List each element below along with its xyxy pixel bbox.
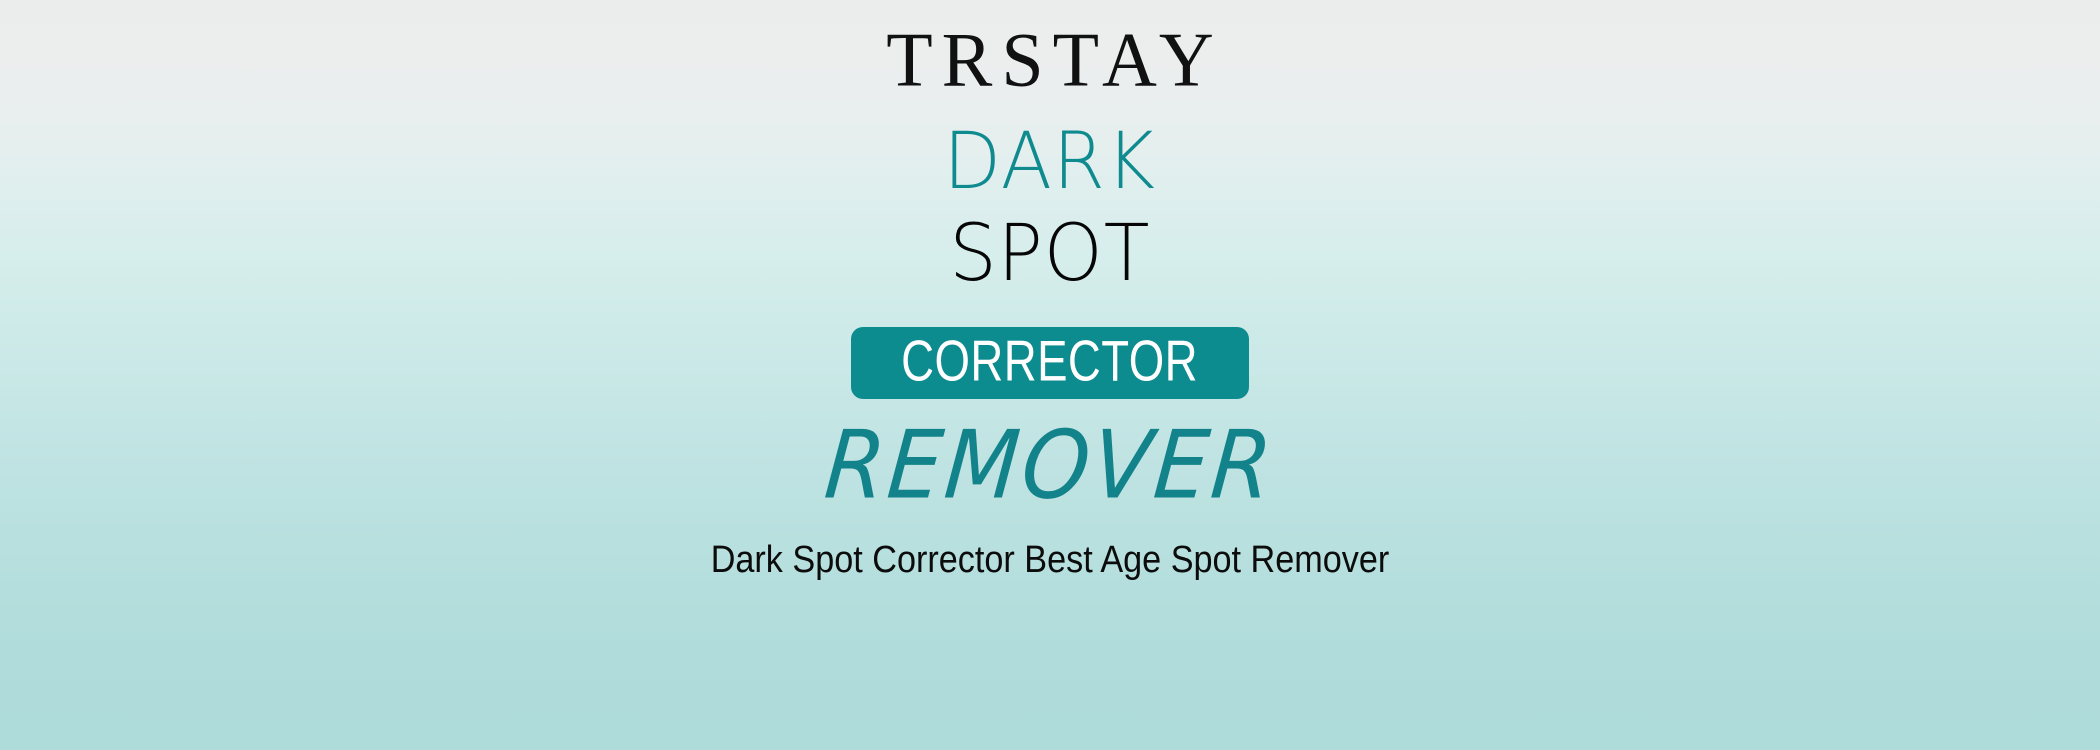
brand-wordmark: TRSTAY <box>877 16 1223 105</box>
corrector-badge-label: CORRECTOR <box>902 333 1199 390</box>
corrector-badge: CORRECTOR <box>851 327 1248 399</box>
script-word-remover: REMOVER <box>822 418 1279 512</box>
banner-tagline: Dark Spot Corrector Best Age Spot Remove… <box>711 541 1390 579</box>
headline-line-dark: DARK <box>944 123 1157 201</box>
headline-line-spot: SPOT <box>949 215 1150 293</box>
banner-content-stack: TRSTAY DARK SPOT CORRECTOR REMOVER Dark … <box>0 0 2100 750</box>
product-banner: TRSTAY DARK SPOT CORRECTOR REMOVER Dark … <box>0 0 2100 750</box>
